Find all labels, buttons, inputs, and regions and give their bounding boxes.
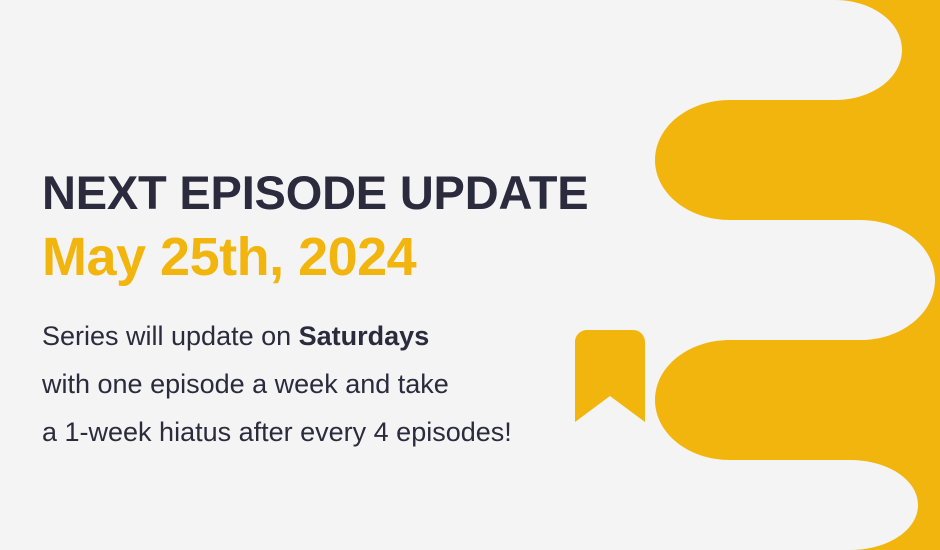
text-block: NEXT EPISODE UPDATE May 25th, 2024 Serie…	[42, 168, 682, 456]
description-emphasis-saturdays: Saturdays	[299, 321, 430, 351]
description-line-1-prefix: Series will update on	[42, 321, 299, 351]
page-title: NEXT EPISODE UPDATE	[42, 168, 682, 217]
next-episode-update-banner: NEXT EPISODE UPDATE May 25th, 2024 Serie…	[0, 0, 940, 550]
description-line-3: a 1-week hiatus after every 4 episodes!	[42, 408, 682, 456]
description-line-2: with one episode a week and take	[42, 360, 682, 408]
description-line-1: Series will update on Saturdays	[42, 312, 682, 360]
episode-date: May 25th, 2024	[42, 229, 682, 286]
schedule-description: Series will update on Saturdays with one…	[42, 312, 682, 456]
